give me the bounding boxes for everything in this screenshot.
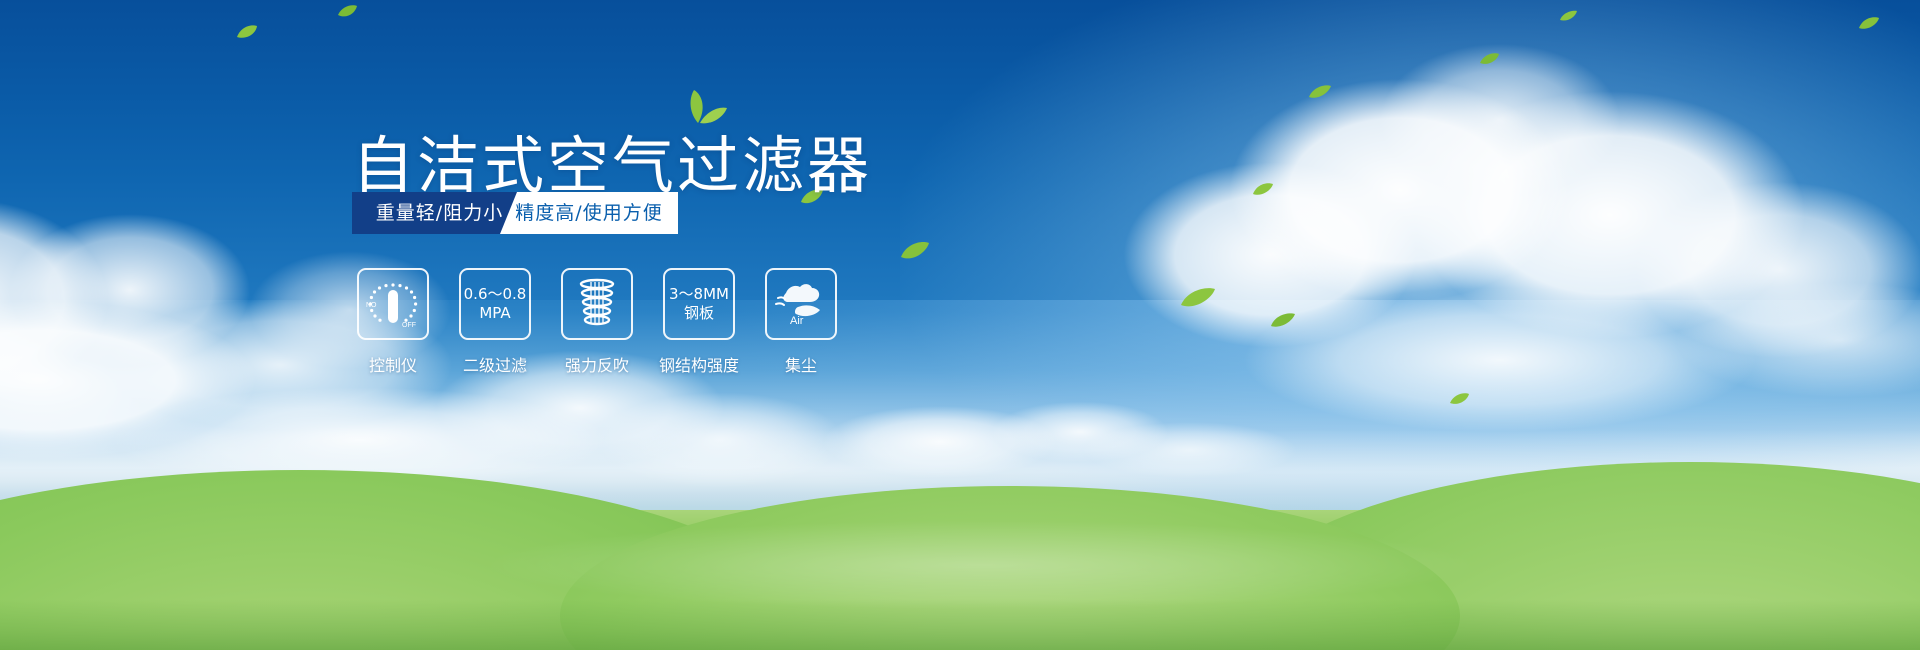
feature-icon-row: NO OFF 控制仪 0.6～0.8 MPA 二级过滤	[356, 268, 838, 376]
dial-on-label: NO	[366, 302, 377, 309]
pressure-range: 0.6～0.8	[464, 285, 527, 303]
coil-spiral-icon	[572, 276, 622, 332]
air-cloud-icon: Air	[772, 279, 830, 329]
feature-item-steel[interactable]: 3～8MM 钢板 钢结构强度	[662, 268, 736, 376]
banner-content: 自洁式空气过滤器 重量轻/阻力小 精度高/使用方便	[0, 0, 1920, 650]
feature-icon-box	[561, 268, 633, 340]
pressure-unit: MPA	[479, 304, 510, 322]
steel-material: 钢板	[684, 304, 714, 322]
dial-off-label: OFF	[402, 322, 416, 329]
steel-thickness: 3～8MM	[669, 285, 729, 303]
feature-icon-box: NO OFF	[357, 268, 429, 340]
feature-item-control[interactable]: NO OFF 控制仪	[356, 268, 430, 376]
dial-control-icon: NO OFF	[362, 275, 424, 333]
page-title: 自洁式空气过滤器	[352, 115, 872, 205]
tag-weight-resistance[interactable]: 重量轻/阻力小	[352, 192, 527, 234]
pressure-text-icon: 0.6～0.8 MPA	[464, 285, 527, 323]
feature-label: 控制仪	[369, 352, 417, 376]
air-label: Air	[790, 315, 804, 327]
leaf-icon	[672, 88, 728, 124]
hero-banner: 自洁式空气过滤器 重量轻/阻力小 精度高/使用方便	[0, 0, 1920, 650]
feature-label: 钢结构强度	[659, 352, 739, 376]
feature-item-pressure[interactable]: 0.6～0.8 MPA 二级过滤	[458, 268, 532, 376]
feature-label: 二级过滤	[463, 352, 527, 376]
feature-icon-box: 0.6～0.8 MPA	[459, 268, 531, 340]
feature-item-dust[interactable]: Air 集尘	[764, 268, 838, 376]
feature-icon-box: 3～8MM 钢板	[663, 268, 735, 340]
steel-plate-text-icon: 3～8MM 钢板	[669, 285, 729, 323]
feature-item-blowback[interactable]: 强力反吹	[560, 268, 634, 376]
feature-label: 强力反吹	[565, 352, 629, 376]
feature-label: 集尘	[785, 352, 817, 376]
feature-icon-box: Air	[765, 268, 837, 340]
tag-precision-convenience[interactable]: 精度高/使用方便	[500, 192, 678, 234]
